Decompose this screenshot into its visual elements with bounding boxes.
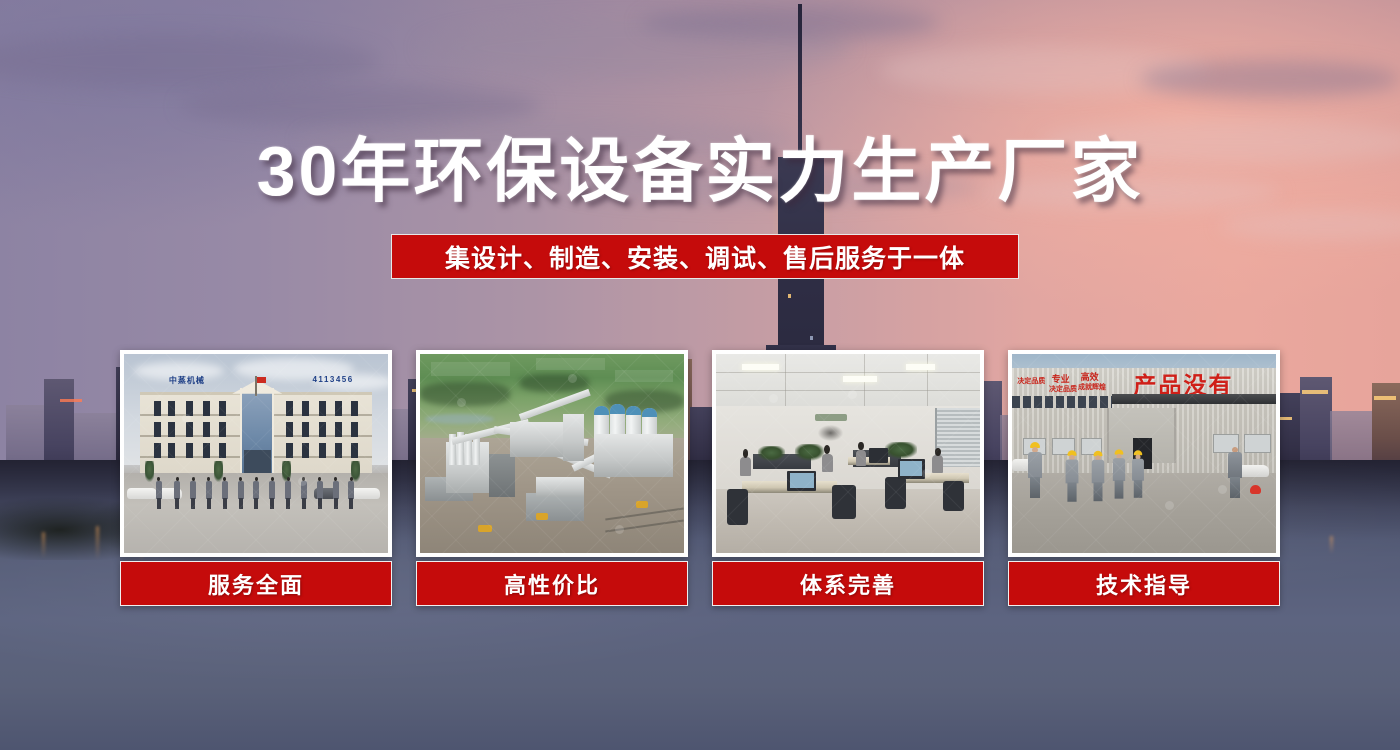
promo-banner: 30年环保设备实力生产厂家 集设计、制造、安装、调试、售后服务于一体 bbox=[0, 0, 1400, 750]
card-caption-text: 高性价比 bbox=[504, 568, 600, 600]
factory-slogan-1: 决定品质 bbox=[1017, 376, 1045, 386]
office-interior-staff-photo bbox=[716, 354, 980, 553]
card-caption[interactable]: 高性价比 bbox=[416, 561, 688, 606]
page-title: 30年环保设备实力生产厂家 bbox=[0, 133, 1400, 209]
feature-card[interactable]: 体系完善 bbox=[712, 350, 984, 605]
photo-frame bbox=[712, 350, 984, 557]
factory-sign-text: 产品没有 bbox=[1133, 366, 1233, 394]
card-caption-text: 技术指导 bbox=[1096, 568, 1192, 600]
card-caption-text: 体系完善 bbox=[800, 568, 896, 600]
feature-card[interactable]: 高性价比 bbox=[416, 350, 688, 605]
feature-card[interactable]: 中蒸机械 4113456 bbox=[120, 350, 392, 605]
aerial-industrial-plant-photo bbox=[420, 354, 684, 553]
feature-card-row: 中蒸机械 4113456 bbox=[120, 350, 1280, 605]
building-sign-text: 中蒸机械 bbox=[169, 375, 205, 391]
factory-slogan-5: 成就辉煌 bbox=[1078, 382, 1106, 392]
feature-card[interactable]: 产品没有 决定品质 专业 决定品质 高效 成就辉煌 bbox=[1008, 350, 1280, 605]
factory-slogan-3: 决定品质 bbox=[1049, 384, 1077, 394]
card-caption[interactable]: 体系完善 bbox=[712, 561, 984, 606]
subtitle-text: 集设计、制造、安装、调试、售后服务于一体 bbox=[445, 239, 965, 275]
card-caption[interactable]: 技术指导 bbox=[1008, 561, 1280, 606]
photo-frame bbox=[416, 350, 688, 557]
card-caption[interactable]: 服务全面 bbox=[120, 561, 392, 606]
subtitle-banner: 集设计、制造、安装、调试、售后服务于一体 bbox=[391, 234, 1019, 279]
photo-frame: 中蒸机械 4113456 bbox=[120, 350, 392, 557]
building-phone-text: 4113456 bbox=[312, 375, 353, 391]
card-caption-text: 服务全面 bbox=[208, 568, 304, 600]
company-building-staff-photo: 中蒸机械 4113456 bbox=[124, 354, 388, 553]
photo-frame: 产品没有 决定品质 专业 决定品质 高效 成就辉煌 bbox=[1008, 350, 1280, 557]
factory-workers-training-photo: 产品没有 决定品质 专业 决定品质 高效 成就辉煌 bbox=[1012, 354, 1276, 553]
